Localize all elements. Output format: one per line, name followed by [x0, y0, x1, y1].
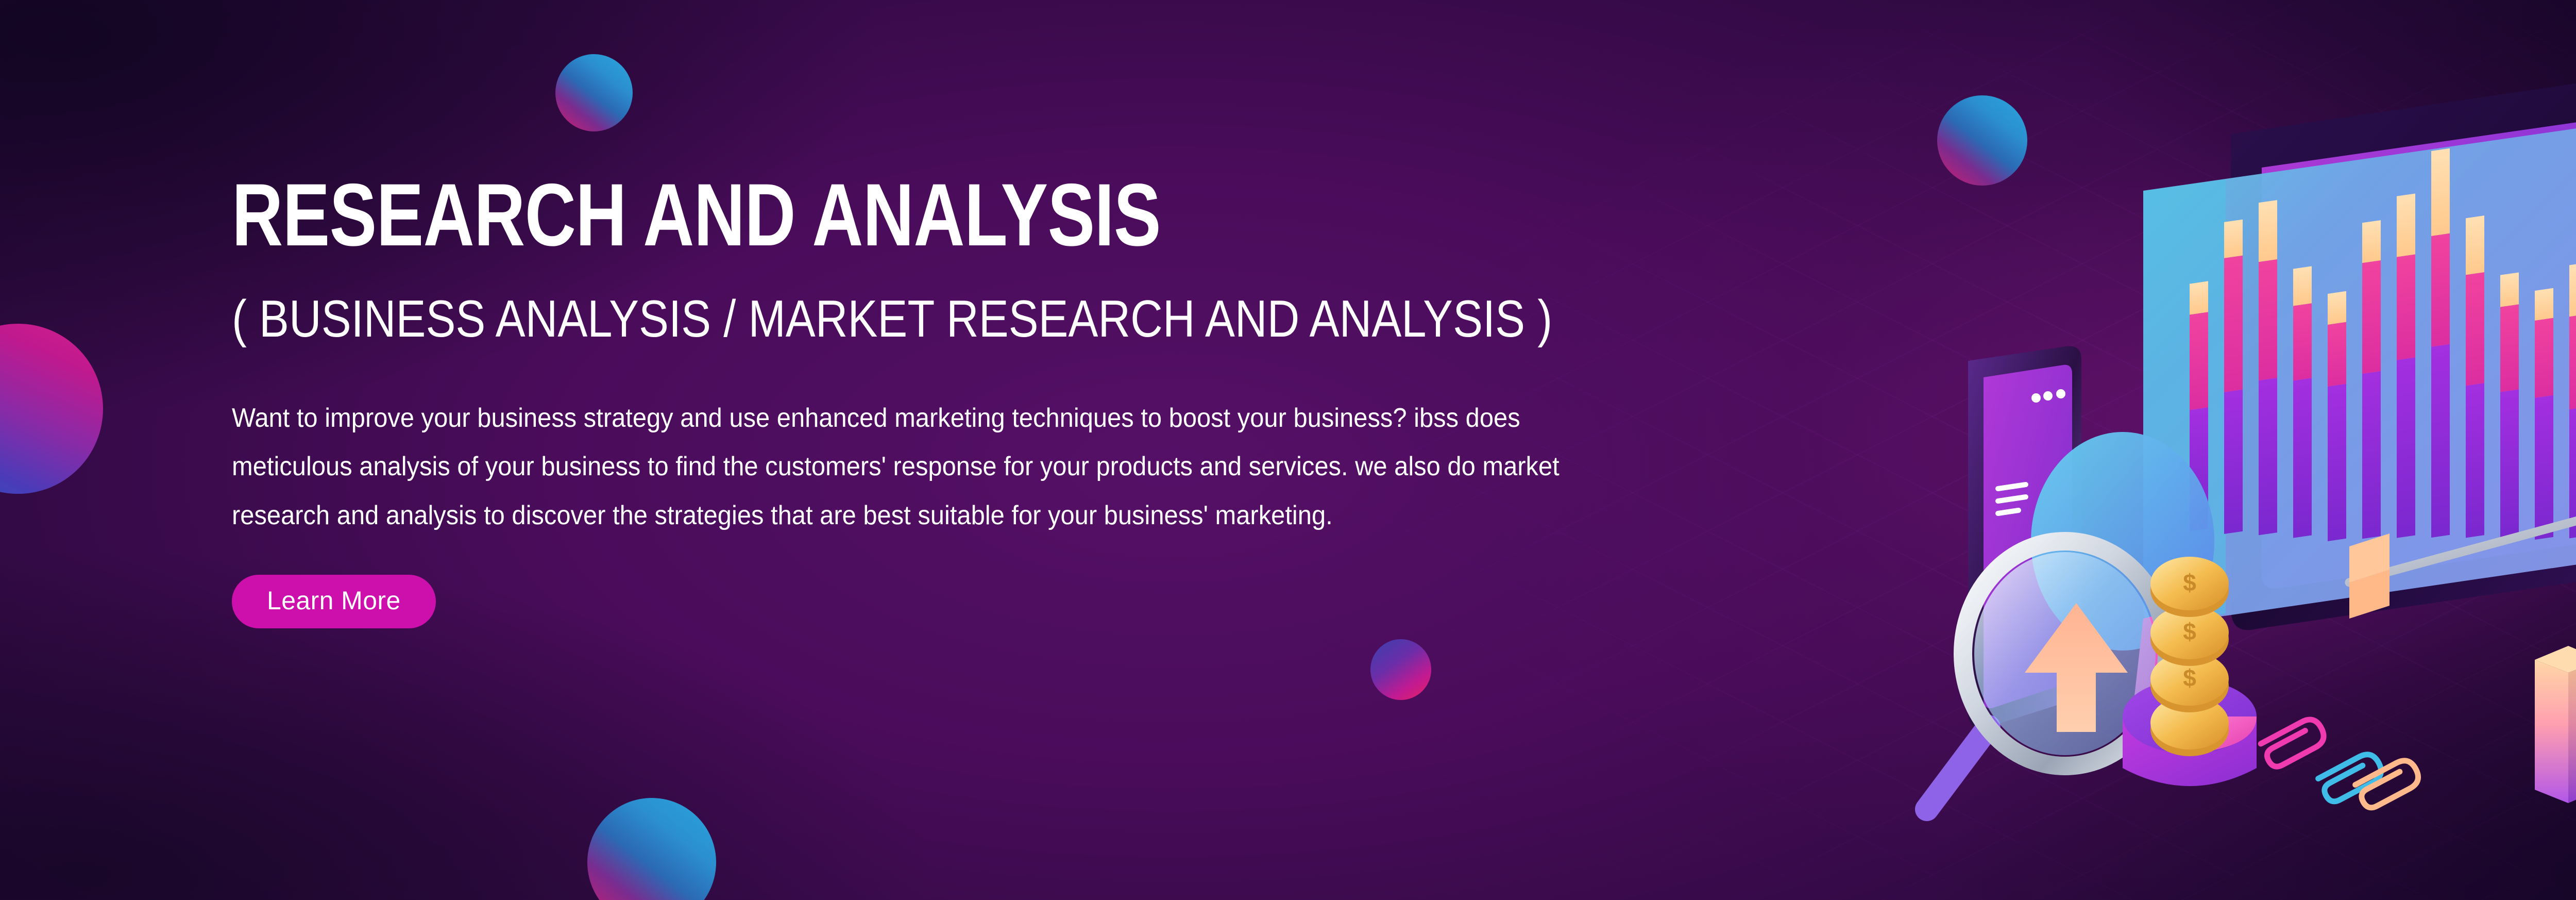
paper-clips	[2260, 715, 2422, 810]
coin-stack: $ $ $	[2150, 557, 2229, 756]
svg-text:$: $	[2183, 664, 2196, 691]
decorative-sphere-center	[1370, 639, 1431, 700]
hero-copy-block: RESEARCH AND ANALYSIS ( BUSINESS ANALYSI…	[232, 170, 1726, 628]
decorative-sphere-top-left	[555, 54, 633, 131]
learn-more-button[interactable]: Learn More	[232, 575, 436, 628]
hero-banner: RESEARCH AND ANALYSIS ( BUSINESS ANALYSI…	[0, 0, 2576, 900]
paper-clip-pink	[2260, 715, 2328, 770]
isometric-illustration: $ $ $	[1834, 62, 2576, 866]
svg-text:$: $	[2183, 569, 2196, 596]
svg-text:$: $	[2183, 618, 2196, 645]
hero-description: Want to improve your business strategy a…	[232, 394, 1602, 540]
page-subtitle: ( BUSINESS ANALYSIS / MARKET RESEARCH AN…	[232, 289, 1517, 349]
page-title: RESEARCH AND ANALYSIS	[232, 170, 1427, 260]
